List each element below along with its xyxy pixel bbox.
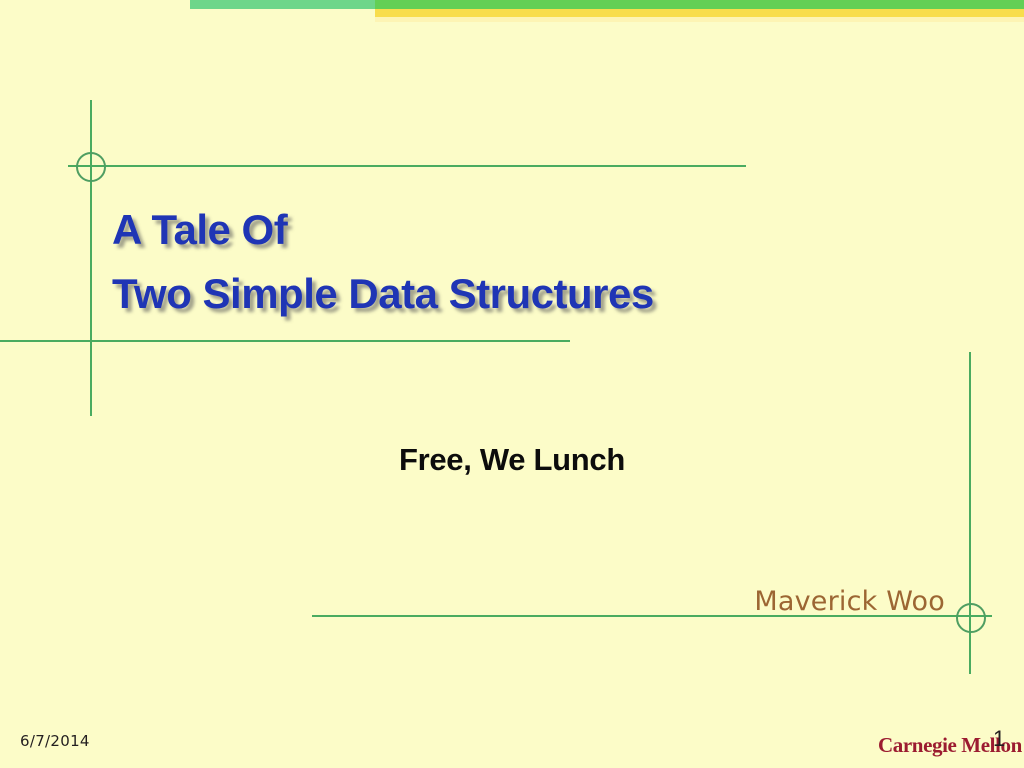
title-line-1: A Tale Of [112, 198, 932, 262]
page-title: A Tale Of Two Simple Data Structures [112, 198, 932, 326]
slide-subtitle: Free, We Lunch [0, 442, 1024, 478]
slide-canvas: A Tale Of Two Simple Data Structures Fre… [0, 0, 1024, 768]
top-bar-green-light-segment [190, 0, 375, 9]
author-name: Maverick Woo [0, 586, 945, 617]
decor-horizontal-line-upper [68, 165, 746, 167]
footer-date: 6/7/2014 [20, 732, 90, 750]
page-number: 1 [993, 726, 1005, 752]
top-bar-green-segment [375, 0, 1024, 9]
decor-circle-icon-right [956, 603, 986, 633]
decor-vertical-line-left [90, 100, 92, 416]
decor-horizontal-line-middle [0, 340, 570, 342]
top-bar-yellow-fade [375, 17, 1024, 22]
decor-circle-icon-left [76, 152, 106, 182]
top-bar-yellow-segment [375, 9, 1024, 17]
title-line-2: Two Simple Data Structures [112, 262, 932, 326]
